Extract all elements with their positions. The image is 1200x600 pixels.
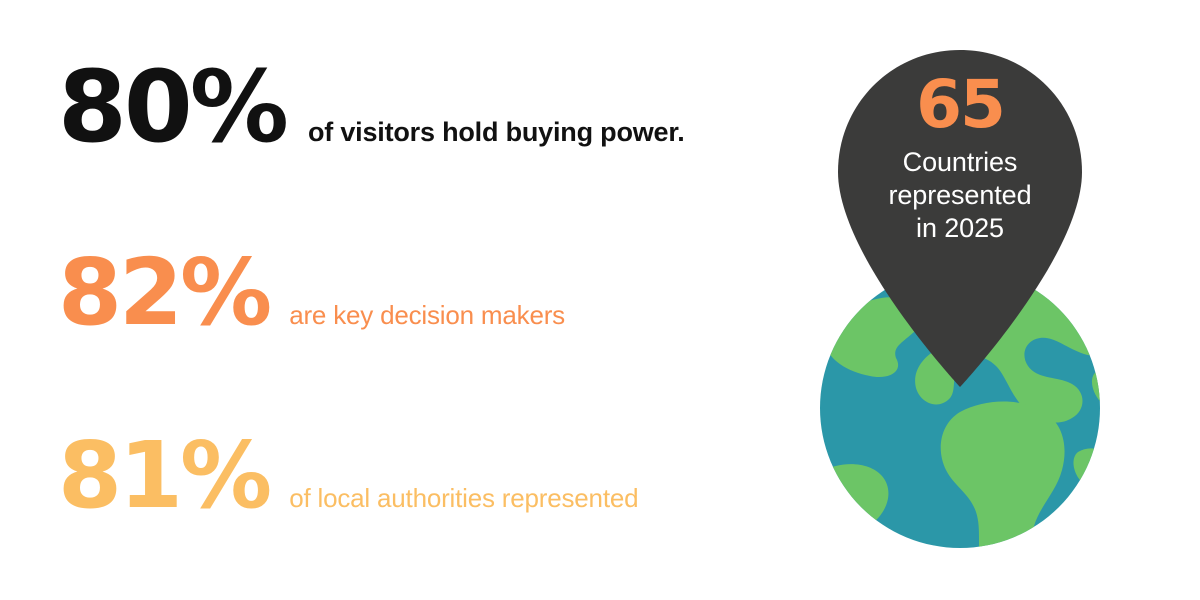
infographic-root: 80% of visitors hold buying power. 82% a… xyxy=(0,0,1200,600)
stat-value-0: 80% xyxy=(58,60,286,156)
globe-pin-graphic: 65 Countries represented in 2025 xyxy=(800,20,1140,580)
stat-caption-0: of visitors hold buying power. xyxy=(308,117,685,147)
stat-caption-1: are key decision makers xyxy=(289,300,565,330)
stat-caption-2: of local authorities represented xyxy=(289,483,638,513)
globe-pin-svg xyxy=(800,20,1140,580)
landmass-southwest xyxy=(800,464,888,580)
stat-row: 82% are key decision makers xyxy=(58,245,565,341)
stat-row: 81% of local authorities represented xyxy=(58,428,638,524)
stat-value-2: 81% xyxy=(58,428,269,524)
stat-value-1: 82% xyxy=(58,245,269,341)
statistics-column: 80% of visitors hold buying power. 82% a… xyxy=(0,0,800,600)
stat-row: 80% of visitors hold buying power. xyxy=(58,60,685,156)
